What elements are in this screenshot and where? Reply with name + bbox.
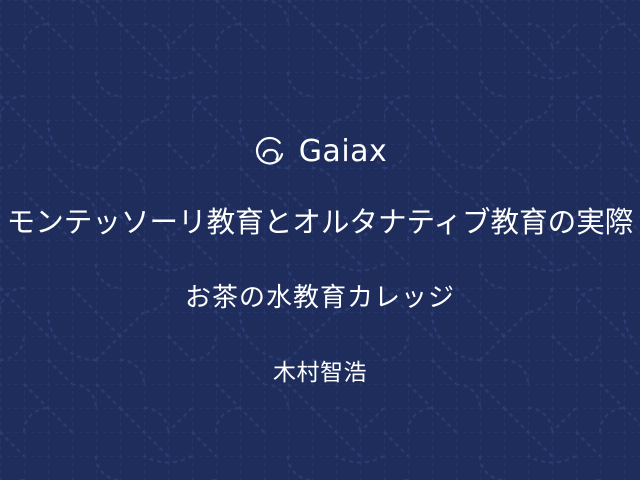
gaiax-wordmark: Gaiax — [299, 137, 388, 167]
gaiax-logo: Gaiax — [0, 130, 640, 174]
slide-content: Gaiax モンテッソーリ教育とオルタナティブ教育の実際 お茶の水教育カレッジ … — [0, 0, 640, 480]
presenter-name: 木村智浩 — [0, 358, 640, 388]
gaiax-circular-mark-icon — [253, 135, 287, 169]
slide-title: モンテッソーリ教育とオルタナティブ教育の実際 — [5, 205, 635, 241]
slide-subtitle: お茶の水教育カレッジ — [0, 281, 640, 315]
title-slide: Gaiax モンテッソーリ教育とオルタナティブ教育の実際 お茶の水教育カレッジ … — [0, 0, 640, 480]
